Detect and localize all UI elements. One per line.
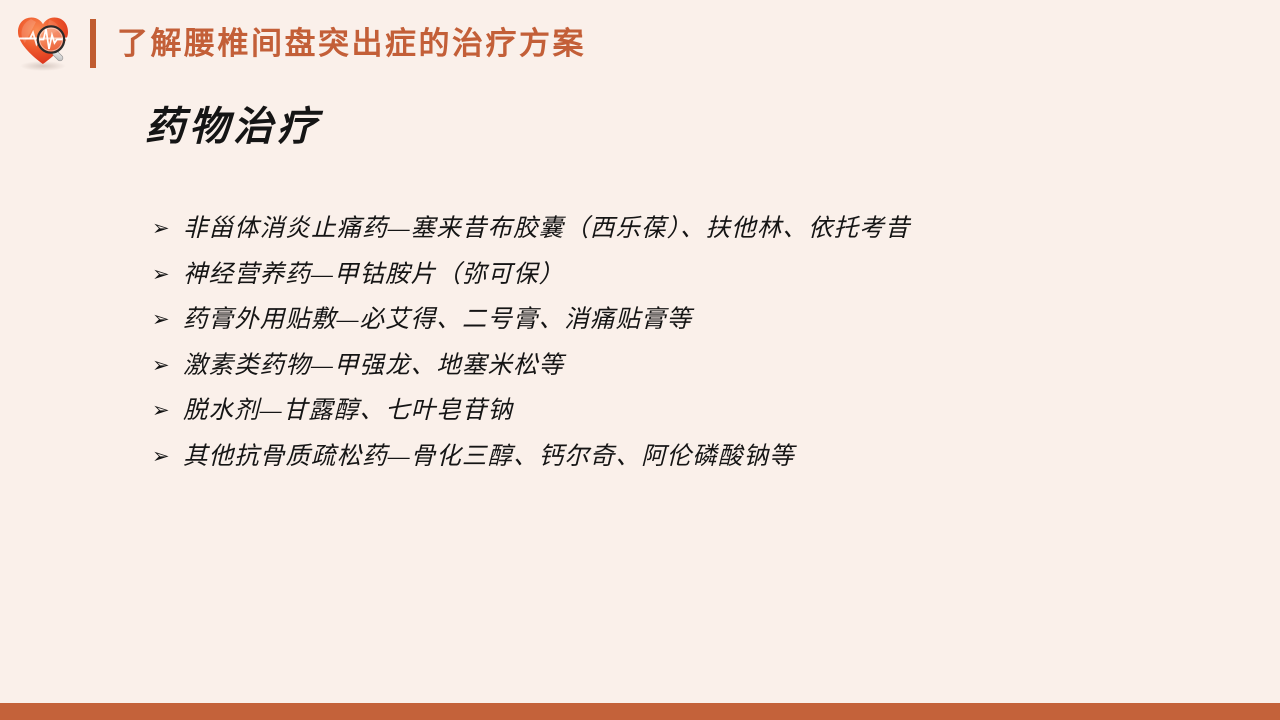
heart-magnifier-icon (13, 13, 81, 73)
list-item: ➢脱水剂—甘露醇、七叶皂苷钠 (152, 388, 1032, 434)
arrow-bullet-icon: ➢ (152, 343, 176, 389)
medication-bullet-list: ➢非甾体消炎止痛药—塞来昔布胶囊（西乐葆）、扶他林、依托考昔➢神经营养药—甲钴胺… (152, 206, 1032, 480)
list-item-label: 其他抗骨质疏松药—骨化三醇、钙尔奇、阿伦磷酸钠等 (183, 434, 1032, 480)
list-item: ➢激素类药物—甲强龙、地塞米松等 (152, 343, 1032, 389)
list-item: ➢药膏外用贴敷—必艾得、二号膏、消痛贴膏等 (152, 297, 1032, 343)
header-accent-divider (90, 19, 96, 68)
arrow-bullet-icon: ➢ (152, 388, 176, 434)
arrow-bullet-icon: ➢ (152, 434, 176, 480)
arrow-bullet-icon: ➢ (152, 297, 176, 343)
section-title: 药物治疗 (145, 98, 321, 156)
footer-accent-bar (0, 703, 1280, 720)
list-item-label: 神经营养药—甲钴胺片（弥可保） (183, 252, 1032, 298)
slide-canvas: 了解腰椎间盘突出症的治疗方案 药物治疗 ➢非甾体消炎止痛药—塞来昔布胶囊（西乐葆… (0, 0, 1280, 720)
slide-header: 了解腰椎间盘突出症的治疗方案 (0, 0, 1280, 88)
list-item-label: 脱水剂—甘露醇、七叶皂苷钠 (183, 388, 1032, 434)
arrow-bullet-icon: ➢ (152, 252, 176, 298)
list-item-label: 激素类药物—甲强龙、地塞米松等 (183, 343, 1032, 389)
page-title: 了解腰椎间盘突出症的治疗方案 (117, 19, 586, 69)
list-item: ➢非甾体消炎止痛药—塞来昔布胶囊（西乐葆）、扶他林、依托考昔 (152, 206, 1032, 252)
list-item: ➢神经营养药—甲钴胺片（弥可保） (152, 252, 1032, 298)
list-item: ➢其他抗骨质疏松药—骨化三醇、钙尔奇、阿伦磷酸钠等 (152, 434, 1032, 480)
list-item-label: 药膏外用贴敷—必艾得、二号膏、消痛贴膏等 (183, 297, 1032, 343)
list-item-label: 非甾体消炎止痛药—塞来昔布胶囊（西乐葆）、扶他林、依托考昔 (183, 206, 1032, 252)
arrow-bullet-icon: ➢ (152, 206, 176, 252)
